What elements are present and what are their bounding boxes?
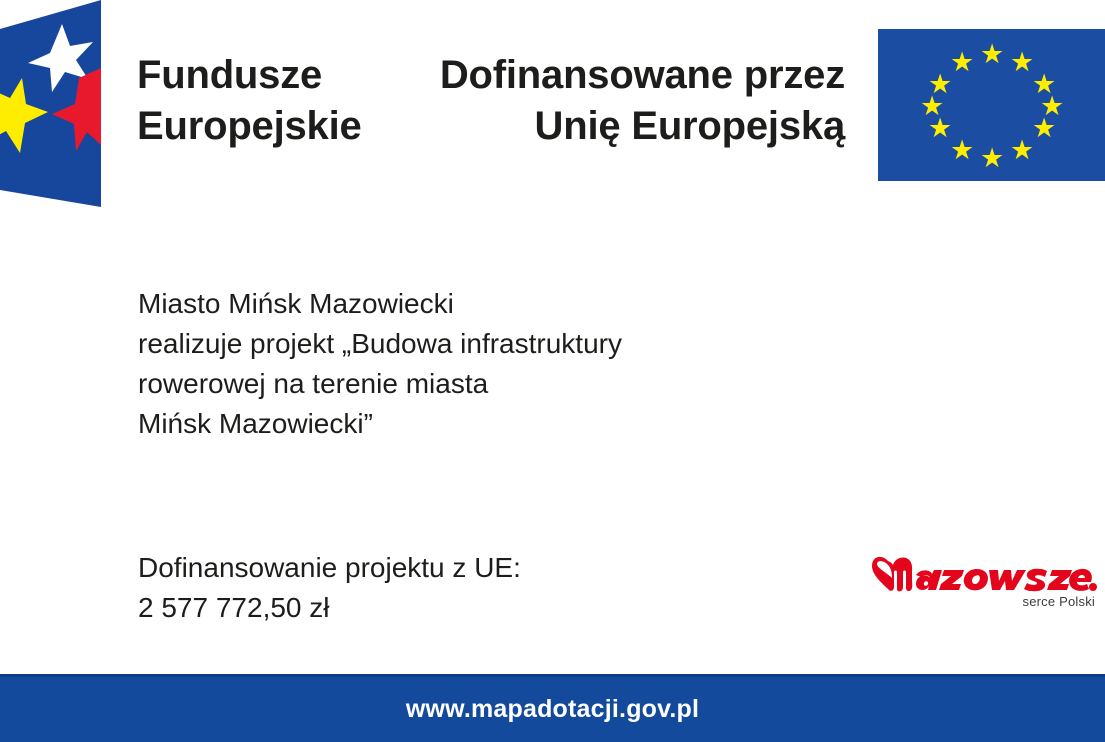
- funding-label: Dofinansowanie projektu z UE:: [138, 548, 521, 588]
- eu-flag-star: ★: [950, 139, 972, 161]
- mazowsze-tagline: serce Polski: [1023, 594, 1095, 609]
- mazowsze-logo: serce Polski: [872, 553, 1097, 615]
- funding-amount: 2 577 772,50 zł: [138, 588, 521, 628]
- mazowsze-letter-z2: [1047, 570, 1072, 590]
- eu-funding-statement: Dofinansowane przez Unię Europejską: [390, 50, 845, 152]
- mazowsze-letter-e: [1069, 569, 1092, 591]
- eu-flag-star: ★: [1010, 139, 1032, 161]
- fe-logo-svg: [0, 0, 103, 210]
- mazowsze-letter-a: [916, 570, 942, 590]
- mapadotacji-url[interactable]: www.mapadotacji.gov.pl: [0, 677, 1105, 742]
- eu-flag-star: ★: [950, 51, 972, 73]
- eu-funding-information-board: Fundusze Europejskie Dofinansowane przez…: [0, 0, 1105, 742]
- mazowsze-letter-s: [1024, 569, 1047, 591]
- mazowsze-letter-w: [989, 570, 1026, 590]
- mazowsze-letter-z1: [939, 570, 964, 590]
- eu-flag-star: ★: [980, 147, 1002, 169]
- eu-flag-star: ★: [1032, 117, 1054, 139]
- eu-flag-star: ★: [928, 117, 950, 139]
- mazowsze-letter-o: [964, 569, 988, 590]
- eu-flag-star: ★: [980, 43, 1002, 65]
- fundusze-europejskie-logo: [0, 0, 103, 210]
- funding-amount-block: Dofinansowanie projektu z UE: 2 577 772,…: [138, 548, 521, 628]
- mazowsze-wordmark-svg: [872, 553, 1097, 595]
- project-description: Miasto Mińsk Mazowiecki realizuje projek…: [138, 284, 622, 444]
- mazowsze-period-dot: [1089, 583, 1097, 591]
- eu-flag-star: ★: [1010, 51, 1032, 73]
- fundusze-europejskie-wordmark: Fundusze Europejskie: [137, 50, 362, 152]
- footer-bar: www.mapadotacji.gov.pl: [0, 674, 1105, 742]
- mazowsze-heart-icon: [872, 557, 912, 592]
- european-union-flag: ★ ★ ★ ★ ★ ★ ★ ★ ★ ★ ★ ★: [878, 29, 1105, 181]
